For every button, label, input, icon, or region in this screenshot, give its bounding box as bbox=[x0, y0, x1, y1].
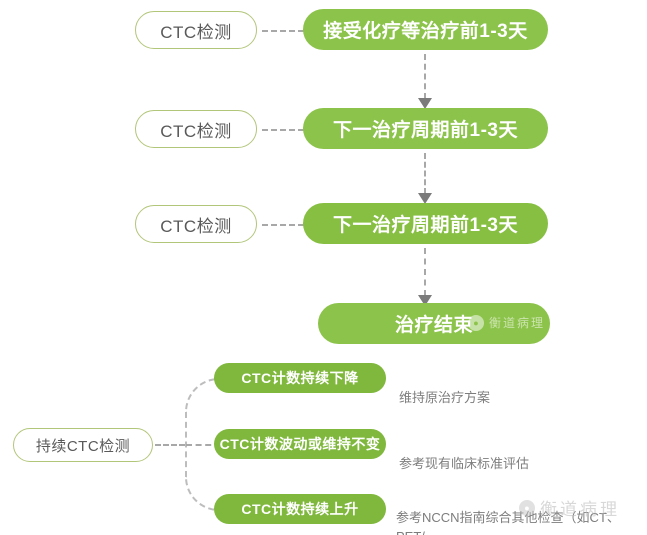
branch-result-pill-3: CTC计数持续上升 bbox=[214, 494, 386, 524]
connector-dash-2 bbox=[262, 129, 304, 131]
treatment-end-label: 治疗结束 bbox=[395, 310, 473, 337]
stage-pill-3-label: 下一治疗周期前1-3天 bbox=[333, 210, 518, 237]
flow-connector-2 bbox=[424, 153, 426, 194]
treatment-end-pill: 治疗结束 bbox=[318, 303, 550, 344]
stage-pill-2: 下一治疗周期前1-3天 bbox=[303, 108, 548, 149]
stage-pill-2-label: 下一治疗周期前1-3天 bbox=[333, 115, 518, 142]
connector-dash-1 bbox=[262, 30, 304, 32]
branch-action-note-1: 维持原治疗方案 bbox=[399, 370, 639, 408]
branch-action-2-label: 参考现有临床标准评估 bbox=[399, 456, 529, 471]
branch-action-note-3: 参考NCCN指南综合其他检查（如CT、PET/ CT、MRI等）考虑是否更换治疗… bbox=[396, 490, 646, 535]
branch-result-1-label: CTC计数持续下降 bbox=[241, 368, 358, 388]
branch-action-1-label: 维持原治疗方案 bbox=[399, 390, 490, 405]
stage-pill-1-label: 接受化疗等治疗前1-3天 bbox=[323, 16, 527, 43]
ctc-test-pill-1-label: CTC检测 bbox=[160, 18, 231, 43]
ctc-test-pill-3-label: CTC检测 bbox=[160, 212, 231, 237]
flow-connector-1 bbox=[424, 54, 426, 99]
diagram-canvas: CTC检测 接受化疗等治疗前1-3天 CTC检测 下一治疗周期前1-3天 CTC… bbox=[0, 0, 647, 535]
branch-result-pill-1: CTC计数持续下降 bbox=[214, 363, 386, 393]
continuous-ctc-label: 持续CTC检测 bbox=[36, 435, 130, 456]
branch-result-3-label: CTC计数持续上升 bbox=[241, 499, 358, 519]
branch-result-pill-2: CTC计数波动或维持不变 bbox=[214, 429, 386, 459]
continuous-ctc-pill: 持续CTC检测 bbox=[13, 428, 153, 462]
ctc-test-pill-1: CTC检测 bbox=[135, 11, 257, 49]
branch-action-3-label: 参考NCCN指南综合其他检查（如CT、PET/ CT、MRI等）考虑是否更换治疗… bbox=[396, 510, 620, 535]
ctc-test-pill-3: CTC检测 bbox=[135, 205, 257, 243]
stage-pill-3: 下一治疗周期前1-3天 bbox=[303, 203, 548, 244]
connector-dash-3 bbox=[262, 224, 304, 226]
ctc-test-pill-2-label: CTC检测 bbox=[160, 117, 231, 142]
stage-pill-1: 接受化疗等治疗前1-3天 bbox=[303, 9, 548, 50]
branch-stem bbox=[155, 444, 185, 446]
branch-action-note-2: 参考现有临床标准评估 bbox=[399, 436, 639, 474]
branch-result-2-label: CTC计数波动或维持不变 bbox=[220, 434, 381, 454]
flow-connector-3 bbox=[424, 248, 426, 296]
ctc-test-pill-2: CTC检测 bbox=[135, 110, 257, 148]
